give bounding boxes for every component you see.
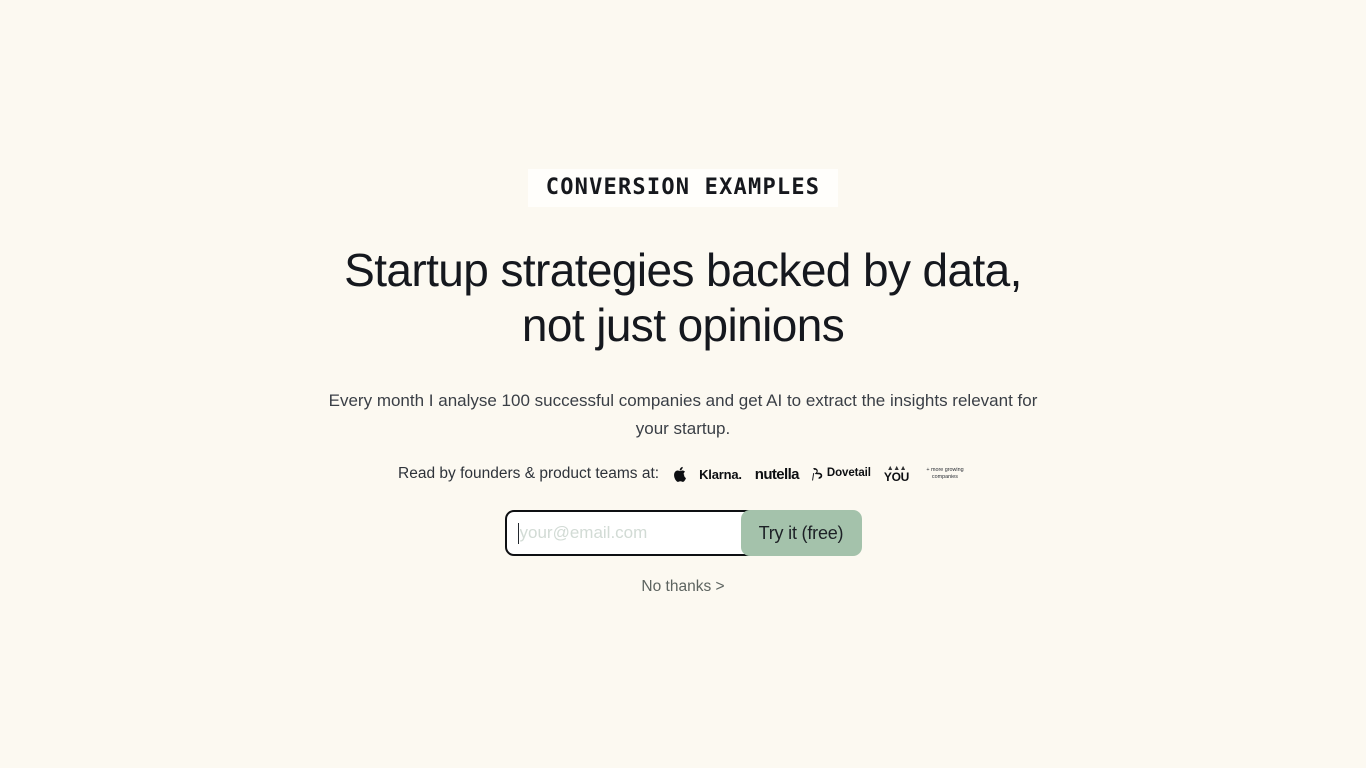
page-subtitle-line-1: Every month I analyse 100 successful com…	[329, 391, 1038, 410]
dovetail-logo: Dovetail	[812, 467, 871, 481]
you-logo: ▲▲▲ YOU	[884, 465, 909, 483]
page-title: Startup strategies backed by data, not j…	[0, 243, 1366, 353]
more-companies-note: + more growing companies	[922, 467, 968, 481]
dovetail-logo-text: Dovetail	[827, 468, 871, 480]
page-title-line-2: not just opinions	[0, 298, 1366, 353]
email-capture-inner: Try it (free)	[505, 510, 862, 556]
signup-overlay-page: CONVERSION EXAMPLES Startup strategies b…	[0, 0, 1366, 768]
no-thanks-link[interactable]: No thanks >	[0, 578, 1366, 596]
social-proof-row: Read by founders & product teams at: Kla…	[0, 465, 1366, 483]
social-proof-logos: Klarna. nutella Dovetail ▲▲▲ YOU + more …	[673, 465, 968, 483]
klarna-logo: Klarna.	[699, 468, 742, 481]
page-subtitle: Every month I analyse 100 successful com…	[0, 387, 1366, 443]
submit-button[interactable]: Try it (free)	[741, 510, 862, 556]
dovetail-mark-icon	[812, 467, 824, 481]
nutella-logo: nutella	[755, 467, 799, 482]
you-logo-text: YOU	[884, 471, 909, 483]
text-cursor	[518, 523, 520, 544]
you-crown-icon: ▲▲▲	[887, 465, 906, 472]
email-capture-form: Try it (free)	[0, 510, 1366, 556]
email-input[interactable]	[505, 510, 757, 556]
page-title-line-1: Startup strategies backed by data,	[344, 244, 1022, 296]
page-subtitle-line-2: your startup.	[0, 415, 1366, 443]
eyebrow-badge-container: CONVERSION EXAMPLES	[0, 169, 1366, 207]
eyebrow-badge: CONVERSION EXAMPLES	[528, 169, 838, 207]
apple-logo-icon	[673, 466, 686, 482]
social-proof-label: Read by founders & product teams at:	[398, 465, 659, 483]
